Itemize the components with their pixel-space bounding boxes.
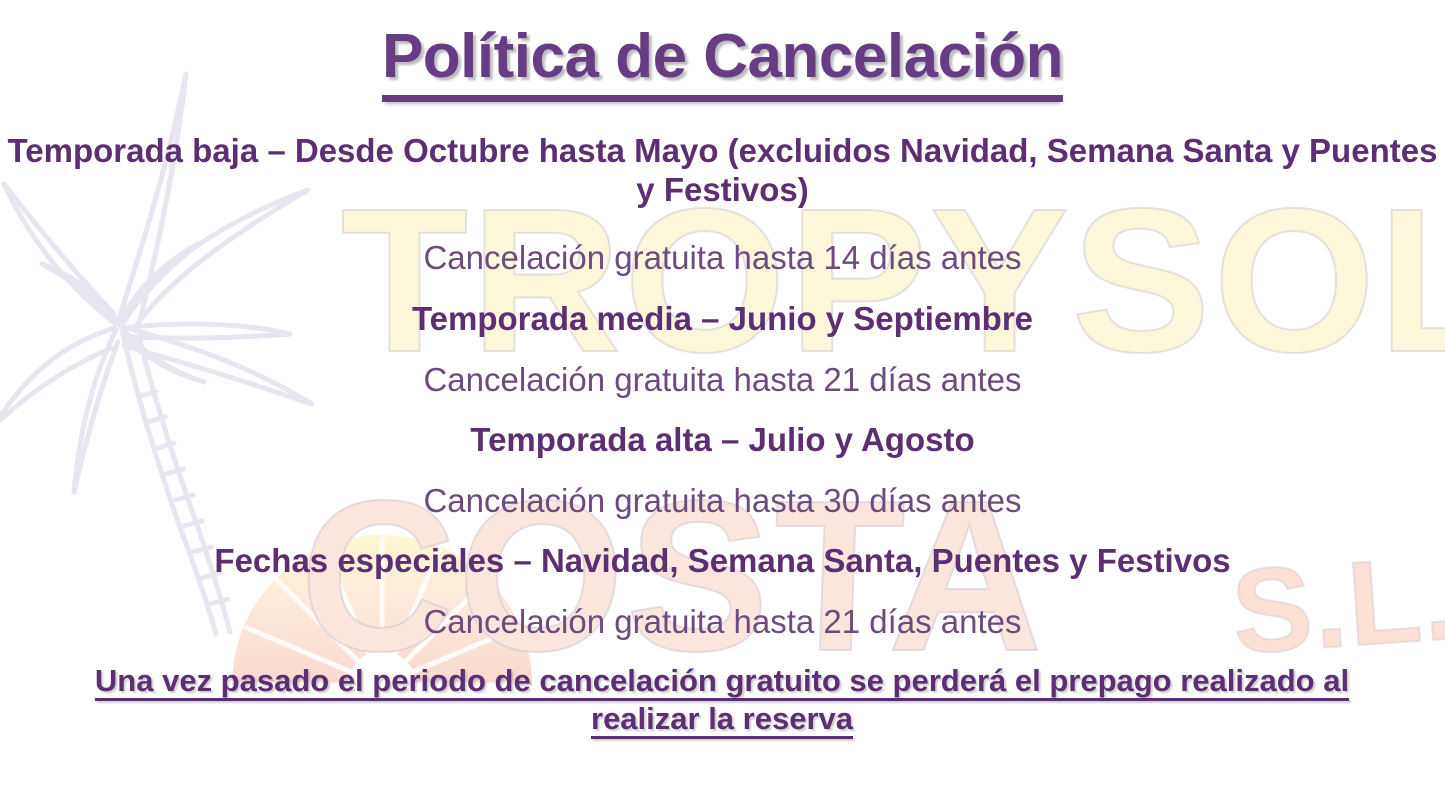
season-heading-media: Temporada media – Junio y Septiembre <box>0 302 1445 337</box>
page-title: Política de Cancelación <box>0 24 1445 102</box>
cancellation-policy-slide: TROPYSOL COSTA S.L. Política de Cancelac… <box>0 0 1445 812</box>
season-heading-especiales: Fechas especiales – Navidad, Semana Sant… <box>0 544 1445 579</box>
season-heading-baja: Temporada baja – Desde Octubre hasta May… <box>0 132 1445 210</box>
footer-notice: Una vez pasado el periodo de cancelación… <box>62 662 1382 738</box>
policy-content: Política de Cancelación Temporada baja –… <box>0 0 1445 812</box>
season-rule-especiales: Cancelación gratuita hasta 21 días antes <box>0 605 1445 640</box>
season-rule-alta: Cancelación gratuita hasta 30 días antes <box>0 484 1445 519</box>
season-heading-alta: Temporada alta – Julio y Agosto <box>0 423 1445 458</box>
page-title-text: Política de Cancelación <box>382 24 1063 102</box>
season-rule-baja: Cancelación gratuita hasta 14 días antes <box>0 241 1445 276</box>
footer-notice-text: Una vez pasado el periodo de cancelación… <box>95 663 1349 736</box>
season-rule-media: Cancelación gratuita hasta 21 días antes <box>0 363 1445 398</box>
